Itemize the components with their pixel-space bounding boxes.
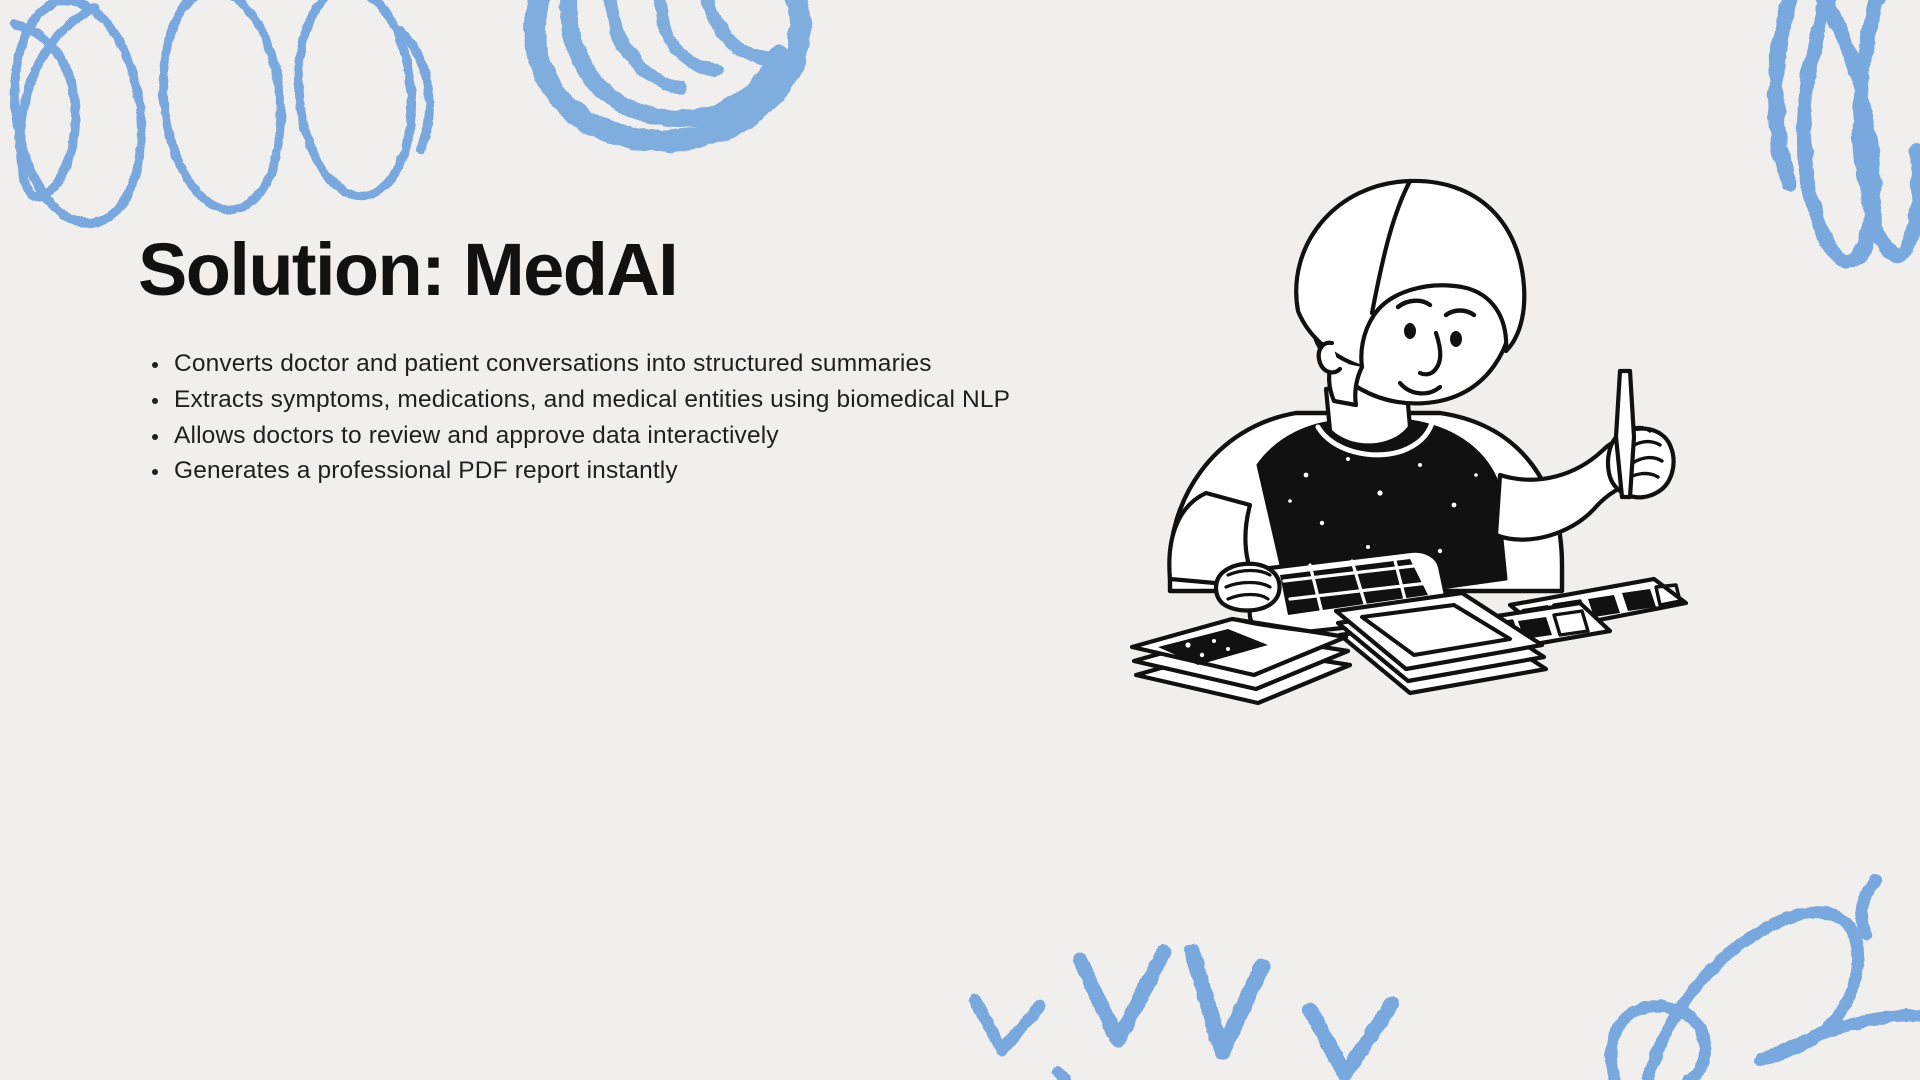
doodle-loops-top-right: [1776, 0, 1919, 262]
list-item: Allows doctors to review and approve dat…: [170, 419, 1034, 454]
list-item: Converts doctor and patient conversation…: [170, 347, 1034, 382]
doodle-checkmarks-bottom-center: [975, 952, 1392, 1080]
page-title: Solution: MedAI: [138, 232, 1038, 309]
person-reviewing-photo-slides-illustration: [1110, 175, 1750, 735]
list-item: Generates a professional PDF report inst…: [170, 454, 1034, 489]
doodle-scribble-top-center: [536, 0, 800, 141]
content-column: Solution: MedAI Converts doctor and pati…: [138, 232, 1038, 490]
pencil-icon: [1616, 371, 1634, 497]
eye-left: [1404, 323, 1416, 339]
slide: Solution: MedAI Converts doctor and pati…: [0, 0, 1920, 1080]
bullet-list: Converts doctor and patient conversation…: [138, 347, 1038, 489]
list-item: Extracts symptoms, medications, and medi…: [170, 383, 1034, 418]
eye-right: [1450, 331, 1462, 347]
doodle-loops-top-left: [1, 0, 430, 232]
doodle-cursive-bottom-right: [1611, 880, 1920, 1080]
